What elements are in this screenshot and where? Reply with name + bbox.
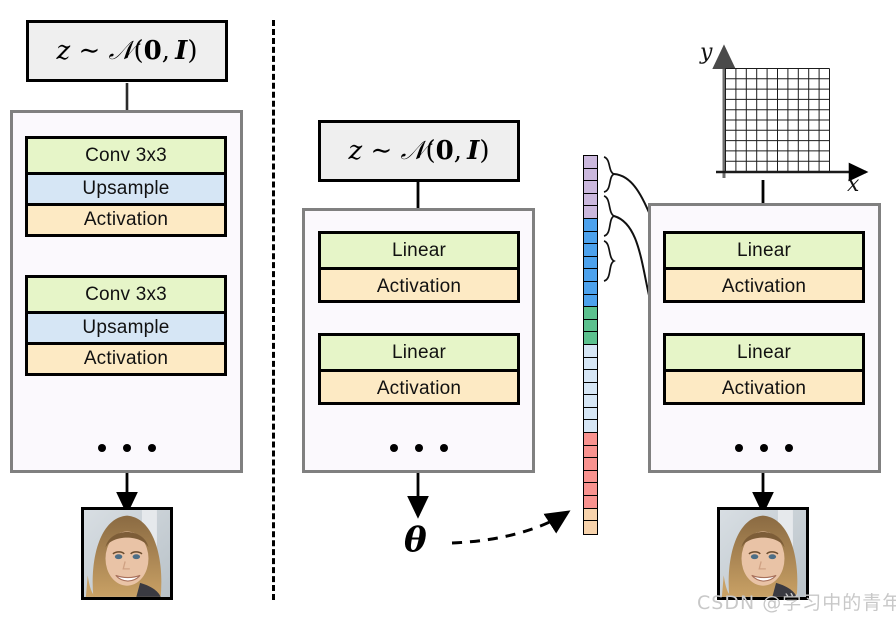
parameter-cell: [584, 358, 597, 371]
parameter-cell: [584, 458, 597, 471]
parameter-cell: [584, 282, 597, 295]
layer-row-linear: Linear: [321, 234, 517, 267]
parameter-cell: [584, 446, 597, 459]
parameter-cell: [584, 345, 597, 358]
layer-row-linear: Linear: [666, 234, 862, 267]
panel-divider: [272, 20, 275, 600]
parameter-cell: [584, 408, 597, 421]
middle-block-1: Linear Activation: [318, 231, 520, 303]
left-ellipsis: [98, 443, 156, 453]
y-axis-label: y: [700, 40, 712, 65]
layer-row-conv: Conv 3x3: [28, 139, 224, 172]
right-block-1: Linear Activation: [663, 231, 865, 303]
parameter-cell: [584, 206, 597, 219]
parameter-cell: [584, 483, 597, 496]
left-block-1: Conv 3x3 Upsample Activation: [25, 136, 227, 237]
layer-row-activation: Activation: [28, 342, 224, 373]
parameter-cell: [584, 269, 597, 282]
left-block-2: Conv 3x3 Upsample Activation: [25, 275, 227, 376]
parameter-cell: [584, 232, 597, 245]
layer-row-activation: Activation: [321, 369, 517, 405]
latent-box-left: z ∼ 𝒩(0, I): [26, 20, 228, 82]
parameter-cell: [584, 433, 597, 446]
theta-parameter-vector: [583, 155, 598, 535]
parameter-cell: [584, 509, 597, 522]
parameter-cell: [584, 496, 597, 509]
parameter-cell: [584, 471, 597, 484]
parameter-cell: [584, 395, 597, 408]
parameter-braces: [604, 157, 614, 281]
layer-row-conv: Conv 3x3: [28, 278, 224, 311]
latent-formula-middle: z ∼ 𝒩(0, I): [349, 136, 490, 167]
left-output-face-image: [81, 507, 173, 600]
layer-row-upsample: Upsample: [28, 311, 224, 342]
right-block-2: Linear Activation: [663, 333, 865, 405]
parameter-cell: [584, 332, 597, 345]
parameter-cell: [584, 370, 597, 383]
parameter-cell: [584, 521, 597, 534]
parameter-cell: [584, 194, 597, 207]
parameter-cell: [584, 307, 597, 320]
parameter-cell: [584, 257, 597, 270]
right-output-face-image: [717, 507, 809, 600]
parameter-cell: [584, 219, 597, 232]
layer-row-upsample: Upsample: [28, 172, 224, 203]
parameter-cell: [584, 156, 597, 169]
middle-ellipsis: [390, 443, 448, 453]
parameter-cell: [584, 383, 597, 396]
parameter-cell: [584, 295, 597, 308]
parameter-cell: [584, 181, 597, 194]
theta-symbol: θ: [404, 520, 427, 560]
x-axis-label: x: [847, 172, 859, 197]
layer-row-activation: Activation: [666, 267, 862, 303]
layer-row-linear: Linear: [666, 336, 862, 369]
coordinate-grid: [725, 68, 830, 172]
latent-formula-left: z ∼ 𝒩(0, I): [57, 36, 198, 67]
parameter-cell: [584, 244, 597, 257]
parameter-cell: [584, 420, 597, 433]
layer-row-linear: Linear: [321, 336, 517, 369]
right-ellipsis: [735, 443, 793, 453]
middle-block-2: Linear Activation: [318, 333, 520, 405]
layer-row-activation: Activation: [666, 369, 862, 405]
watermark: CSDN @学习中的青年: [697, 588, 896, 615]
layer-row-activation: Activation: [28, 203, 224, 234]
layer-row-activation: Activation: [321, 267, 517, 303]
latent-box-middle: z ∼ 𝒩(0, I): [318, 120, 520, 182]
parameter-cell: [584, 169, 597, 182]
parameter-cell: [584, 320, 597, 333]
diagram-canvas: z ∼ 𝒩(0, I) Conv 3x3 Upsample Activation…: [0, 0, 896, 621]
